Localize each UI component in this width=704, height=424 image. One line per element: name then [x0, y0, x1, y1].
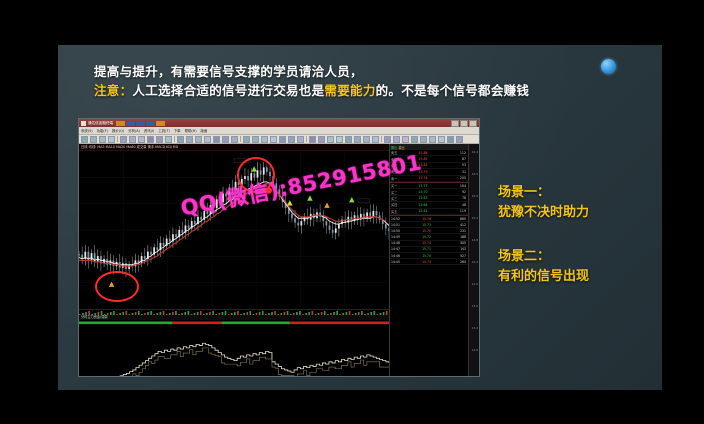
axis-tick: 14.4 [472, 260, 478, 264]
headline-block: 提高与提升，有需要信号支撑的学员请洽人员， 注意：人工选择合适的信号进行交易也是… [94, 62, 614, 101]
sell-orders-list[interactable]: 卖五15.88112卖四15.8587卖三15.8253卖二15.7931卖一1… [390, 150, 468, 182]
toolbar-icon-3[interactable] [108, 136, 115, 143]
toolbar-separator [174, 136, 175, 142]
toolbar-icon-21[interactable] [252, 136, 259, 143]
toolbar-icon-35[interactable] [372, 136, 379, 143]
headline-line-2-b: 的。不是每个信号都会赚钱 [376, 83, 530, 98]
toolbar-separator [306, 136, 307, 142]
trade-volume: 527 [446, 254, 468, 258]
buy-order-price: 15.64 [400, 203, 446, 207]
sell-order-label: 卖五 [390, 150, 400, 155]
quick-button-buy[interactable] [116, 121, 125, 126]
trade-price: 15.75 [407, 229, 446, 233]
caption-scenario-1: 场景一： 犹豫不决时助力 [498, 183, 662, 222]
trade-price: 15.71 [407, 247, 446, 251]
sell-order-price: 15.85 [400, 157, 446, 161]
toolbar-separator [117, 136, 118, 142]
toolbar-icon-30[interactable] [327, 136, 334, 143]
entry-annotation-circle [95, 271, 139, 302]
menu-item-system[interactable]: 系统(S) [81, 128, 93, 133]
toolbar-icon-23[interactable] [270, 136, 277, 143]
toolbar-icon-31[interactable] [336, 136, 343, 143]
trade-volume: 231 [446, 229, 468, 233]
sell-order-row[interactable]: 卖一15.76205 [390, 176, 468, 182]
trade-time: 14:52 [390, 217, 407, 221]
menu-bar[interactable]: 系统(S) 功能(F) 报价(Q) 分析(A) 资讯(I) 工具(T) 下单 帮… [79, 127, 479, 135]
buy-order-price: 15.70 [400, 190, 446, 194]
toolbar-icon-41[interactable] [420, 136, 427, 143]
buy-order-quantity: 164 [446, 184, 468, 188]
trade-time: 14:47 [390, 247, 407, 251]
captions-block: 场景一： 犹豫不决时助力 场景二： 有利的信号出现 [498, 183, 662, 311]
toolbar-icon-43[interactable] [438, 136, 445, 143]
menu-item-help[interactable]: 帮助(H) [185, 128, 197, 133]
window-controls[interactable] [451, 120, 477, 127]
toolbar-icon-22[interactable] [261, 136, 268, 143]
axis-tick: 16.4 [472, 150, 478, 154]
buy-order-price: 15.67 [400, 196, 446, 200]
order-book-header-right: 量比 [398, 145, 404, 150]
toolbar-icon-29[interactable] [318, 136, 325, 143]
buy-order-label: 买三 [390, 196, 400, 201]
caption-2-title: 场景二： [498, 247, 662, 267]
toolbar[interactable] [79, 135, 479, 144]
maximize-button[interactable] [460, 120, 468, 127]
toolbar-separator [381, 136, 382, 142]
sell-order-label: 卖四 [390, 157, 400, 162]
toolbar-icon-9[interactable] [156, 136, 163, 143]
buy-order-price: 15.61 [400, 209, 446, 213]
trade-time: 14:45 [390, 260, 407, 264]
trade-volume: 264 [446, 260, 468, 264]
blue-circle-logo-icon [601, 59, 616, 74]
menu-item-info[interactable]: 资讯(I) [144, 128, 154, 133]
exit-annotation-circle [237, 157, 275, 193]
axis-tick: 12.8 [472, 348, 478, 352]
toolbar-icon-26[interactable] [297, 136, 304, 143]
minimize-button[interactable] [451, 120, 459, 127]
trade-row[interactable]: 14:4515.73264 [390, 259, 468, 265]
price-chart-pane[interactable] [79, 151, 389, 309]
toolbar-icon-44[interactable] [447, 136, 454, 143]
toolbar-icon-10[interactable] [165, 136, 172, 143]
indicator-pane[interactable] [79, 320, 389, 377]
order-book-header-left: 委比 [391, 145, 397, 150]
titlebar-quick-buttons[interactable] [116, 121, 165, 126]
toolbar-icon-8[interactable] [147, 136, 154, 143]
toolbar-icon-15[interactable] [204, 136, 211, 143]
trade-time: 14:46 [390, 254, 407, 258]
app-main-body: 日线 均线: MA5 MA10 MA20 MA60 成交量 换手 MACD KD… [79, 144, 479, 377]
trade-price: 15.73 [407, 260, 446, 264]
screenshot-root: 提高与提升，有需要信号支撑的学员请洽人员， 注意：人工选择合适的信号进行交易也是… [0, 0, 704, 424]
trade-time: 14:49 [390, 235, 407, 239]
chart-header-text: 日线 均线: MA5 MA10 MA20 MA60 成交量 换手 MACD KD… [79, 144, 389, 151]
trade-time: 14:48 [390, 241, 407, 245]
buy-order-quantity: 119 [446, 209, 468, 213]
toolbar-icon-13[interactable] [186, 136, 193, 143]
toolbar-icon-16[interactable] [213, 136, 220, 143]
trade-price: 15.74 [407, 241, 446, 245]
trade-volume: 305 [446, 241, 468, 245]
menu-item-analysis[interactable]: 分析(A) [128, 128, 140, 133]
axis-tick: 16.0 [472, 172, 478, 176]
order-book-column[interactable]: 委比 量比 卖五15.88112卖四15.8587卖三15.8253卖二15.7… [389, 144, 468, 377]
toolbar-icon-18[interactable] [231, 136, 238, 143]
chart-column[interactable]: 日线 均线: MA5 MA10 MA20 MA60 成交量 换手 MACD KD… [79, 144, 389, 377]
price-axis: 16.416.015.615.214.814.414.013.613.212.8 [468, 144, 479, 377]
window-titlebar[interactable]: 通达信金融终端 [79, 119, 479, 127]
headline-note-label: 注意： [94, 83, 132, 98]
buy-order-quantity: 76 [446, 196, 468, 200]
quick-button-cancel[interactable] [136, 121, 145, 126]
toolbar-icon-37[interactable] [384, 136, 391, 143]
caption-1-title: 场景一： [498, 183, 662, 203]
trade-price: 15.70 [407, 254, 446, 258]
axis-tick: 15.6 [472, 194, 478, 198]
axis-tick: 15.2 [472, 216, 478, 220]
toolbar-icon-25[interactable] [288, 136, 295, 143]
toolbar-icon-20[interactable] [243, 136, 250, 143]
caption-1-text: 犹豫不决时助力 [498, 203, 662, 223]
sell-order-quantity: 112 [446, 151, 468, 155]
trade-volume: 412 [446, 223, 468, 227]
headline-emphasis: 需要能力 [324, 83, 375, 98]
sell-order-price: 15.82 [400, 163, 446, 167]
indicator-svg [79, 320, 389, 377]
toolbar-icon-24[interactable] [279, 136, 286, 143]
volume-band [79, 309, 389, 315]
headline-line-2-a: 人工选择合适的信号进行交易也是 [132, 83, 324, 98]
trading-application-window[interactable]: 通达信金融终端 系统(S) 功能(F) 报价(Q) [78, 118, 480, 377]
menu-item-function[interactable]: 功能(F) [97, 128, 108, 133]
buy-order-row[interactable]: 买五15.61119 [390, 209, 468, 215]
trade-volume: 860 [446, 217, 468, 221]
sell-order-quantity: 31 [446, 170, 468, 174]
sell-order-label: 卖一 [390, 176, 400, 181]
toolbar-icon-12[interactable] [177, 136, 184, 143]
trade-volume: 143 [446, 247, 468, 251]
toolbar-icon-33[interactable] [354, 136, 361, 143]
toolbar-icon-40[interactable] [411, 136, 418, 143]
sell-order-price: 15.79 [400, 170, 446, 174]
trade-time: 14:50 [390, 229, 407, 233]
headline-line-1: 提高与提升，有需要信号支撑的学员请洽人员， [94, 62, 614, 81]
trade-price: 15.72 [407, 235, 446, 239]
buy-order-quantity: 92 [446, 190, 468, 194]
trade-price: 15.76 [407, 217, 446, 221]
menu-item-order[interactable]: 下单 [174, 128, 181, 133]
toolbar-icon-42[interactable] [429, 136, 436, 143]
toolbar-icon-45[interactable] [456, 136, 463, 143]
toolbar-icon-0[interactable] [81, 136, 88, 143]
buy-order-price: 15.73 [400, 184, 446, 188]
caption-scenario-2: 场景二： 有利的信号出现 [498, 247, 662, 286]
sell-order-quantity: 53 [446, 163, 468, 167]
buy-order-label: 买二 [390, 190, 400, 195]
sell-order-quantity: 87 [446, 157, 468, 161]
quick-button-query[interactable] [146, 121, 155, 126]
toolbar-icon-32[interactable] [345, 136, 352, 143]
toolbar-icon-7[interactable] [138, 136, 145, 143]
toolbar-icon-2[interactable] [99, 136, 106, 143]
sell-order-quantity: 205 [446, 176, 468, 180]
toolbar-icon-5[interactable] [120, 136, 127, 143]
trade-ticker-list[interactable]: 14:5215.7686014:5115.7341214:5015.752311… [390, 216, 468, 266]
quick-button-sell[interactable] [126, 121, 135, 126]
volume-band-svg [79, 310, 389, 315]
sell-order-label: 卖二 [390, 169, 400, 174]
toolbar-icon-6[interactable] [129, 136, 136, 143]
toolbar-icon-34[interactable] [363, 136, 370, 143]
toolbar-icon-1[interactable] [90, 136, 97, 143]
sell-order-price: 15.76 [400, 176, 446, 180]
trade-time: 14:51 [390, 223, 407, 227]
toolbar-icon-39[interactable] [402, 136, 409, 143]
toolbar-icon-17[interactable] [222, 136, 229, 143]
axis-tick: 14.8 [472, 238, 478, 242]
sell-order-label: 卖三 [390, 163, 400, 168]
toolbar-separator [240, 136, 241, 142]
buy-order-label: 买四 [390, 202, 400, 207]
menu-item-quote[interactable]: 报价(Q) [112, 128, 124, 133]
menu-item-layout[interactable]: 版面 [201, 128, 208, 133]
menu-item-tools[interactable]: 工具(T) [158, 128, 170, 133]
slide-frame: 提高与提升，有需要信号支撑的学员请洽人员， 注意：人工选择合适的信号进行交易也是… [58, 45, 662, 390]
caption-2-text: 有利的信号出现 [498, 267, 662, 287]
app-icon [81, 121, 86, 126]
buy-order-label: 买一 [390, 183, 400, 188]
buy-order-label: 买五 [390, 209, 400, 214]
quick-button-holdings[interactable] [156, 121, 165, 126]
window-title: 通达信金融终端 [88, 121, 113, 126]
trade-volume: 188 [446, 235, 468, 239]
trade-price: 15.73 [407, 223, 446, 227]
close-button[interactable] [469, 120, 477, 127]
toolbar-icon-38[interactable] [393, 136, 400, 143]
toolbar-icon-28[interactable] [309, 136, 316, 143]
headline-line-2: 注意：人工选择合适的信号进行交易也是需要能力的。不是每个信号都会赚钱 [94, 81, 614, 100]
axis-tick: 14.0 [472, 282, 478, 286]
axis-tick: 13.6 [472, 304, 478, 308]
toolbar-icon-14[interactable] [195, 136, 202, 143]
buy-order-quantity: 48 [446, 203, 468, 207]
buy-orders-list[interactable]: 买一15.73164买二15.7092买三15.6776买四15.6448买五1… [390, 183, 468, 215]
sell-order-price: 15.88 [400, 151, 446, 155]
axis-tick: 13.2 [472, 326, 478, 330]
